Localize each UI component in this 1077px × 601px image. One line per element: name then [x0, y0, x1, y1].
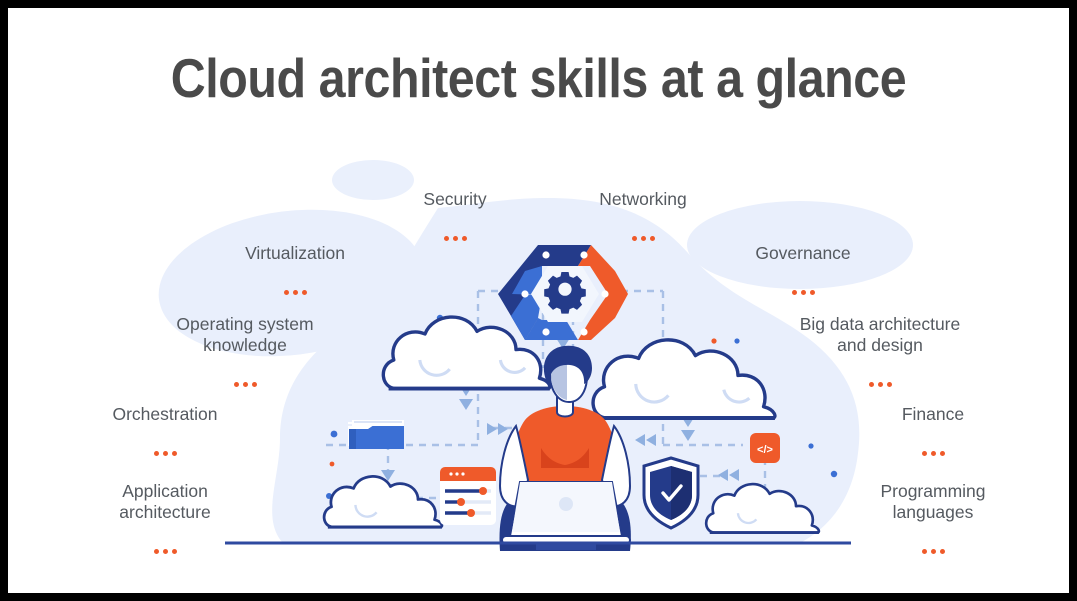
skill-dots — [838, 451, 1028, 456]
skill-text: Big data architecture and design — [760, 314, 1000, 356]
code-badge-glyph: </> — [757, 444, 773, 456]
skill-label-security: Security — [365, 168, 545, 262]
skill-dots — [70, 549, 260, 554]
skill-text: Security — [365, 189, 545, 210]
skill-dots — [365, 236, 545, 241]
folder-icon — [348, 420, 404, 449]
skill-text: Finance — [838, 404, 1028, 425]
code-badge: </> — [750, 433, 780, 463]
skill-label-programming-languages: Programming languages — [838, 460, 1028, 575]
skill-dots — [838, 549, 1028, 554]
skill-dots — [553, 236, 733, 241]
skill-text: Operating system knowledge — [125, 314, 365, 356]
skill-text: Programming languages — [838, 481, 1028, 523]
skill-text: Virtualization — [200, 243, 390, 264]
skill-text: Governance — [708, 243, 898, 264]
skill-label-application-architecture: Application architecture — [70, 460, 260, 575]
image-frame: </> — [0, 0, 1077, 601]
skill-text: Networking — [553, 189, 733, 210]
skill-dots — [70, 451, 260, 456]
settings-panel[interactable] — [440, 467, 496, 525]
skill-text: Orchestration — [70, 404, 260, 425]
infographic-canvas: </> — [8, 8, 1069, 593]
skill-label-networking: Networking — [553, 168, 733, 262]
page-title: Cloud architect skills at a glance — [72, 46, 1006, 110]
skill-text: Application architecture — [70, 481, 260, 523]
